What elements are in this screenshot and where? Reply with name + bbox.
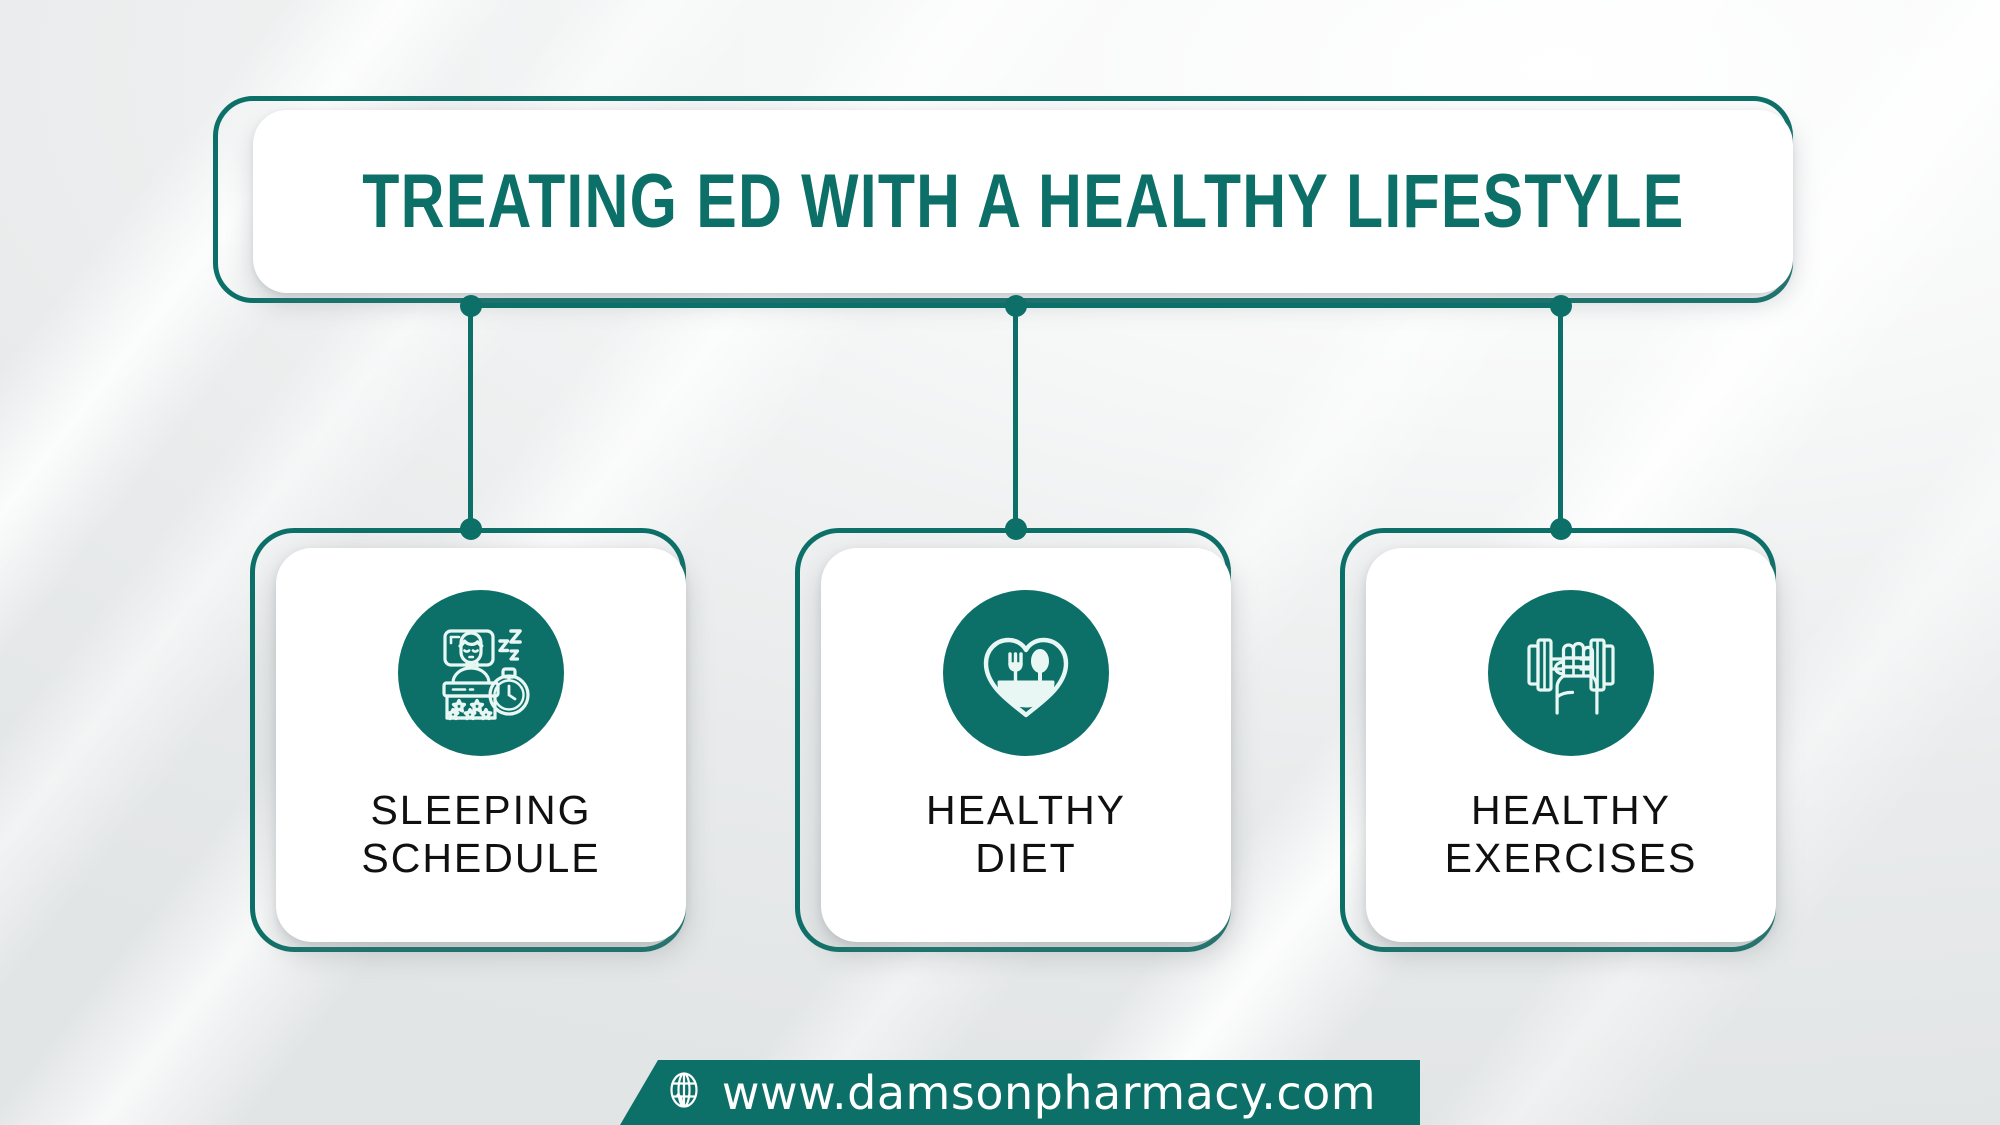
footer-url-text: www.damsonpharmacy.com — [722, 1066, 1376, 1120]
connector-line-left — [468, 306, 473, 524]
card-label-healthy-diet: HEALTHY DIET — [926, 786, 1126, 883]
card-sleeping-schedule[interactable]: SLEEPING SCHEDULE — [276, 548, 686, 942]
connector-line-center — [1013, 306, 1018, 524]
hand-dumbbell-icon — [1488, 590, 1654, 756]
globe-icon — [664, 1070, 704, 1115]
card-healthy-diet[interactable]: HEALTHY DIET — [821, 548, 1231, 942]
connector-line-right — [1558, 306, 1563, 524]
card-label-sleeping-schedule: SLEEPING SCHEDULE — [361, 786, 600, 883]
page-title: TREATING ED WITH A HEALTHY LIFESTYLE — [362, 164, 1684, 240]
infographic-canvas: TREATING ED WITH A HEALTHY LIFESTYLE — [0, 0, 2000, 1125]
card-healthy-exercises[interactable]: HEALTHY EXERCISES — [1366, 548, 1776, 942]
footer-url-banner[interactable]: www.damsonpharmacy.com — [620, 1060, 1420, 1125]
title-card: TREATING ED WITH A HEALTHY LIFESTYLE — [253, 110, 1793, 293]
heart-bowl-cutlery-icon — [943, 590, 1109, 756]
card-label-healthy-exercises: HEALTHY EXERCISES — [1445, 786, 1698, 883]
sleeping-person-clock-icon — [398, 590, 564, 756]
